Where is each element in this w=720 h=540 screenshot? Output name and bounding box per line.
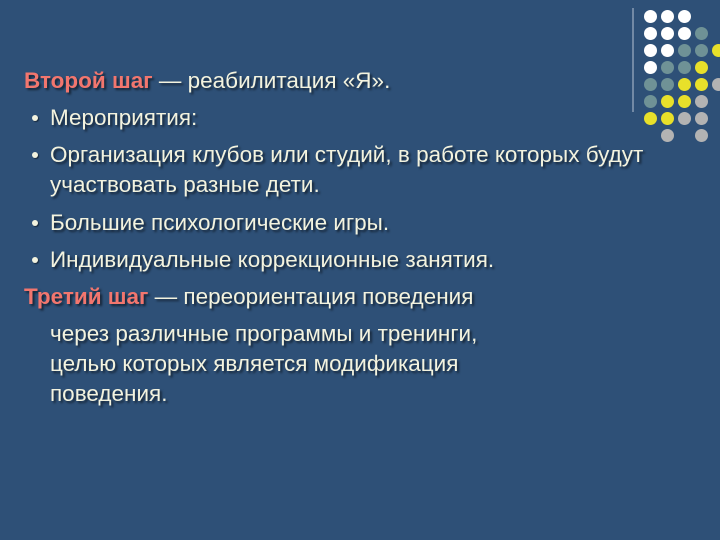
dot-gray bbox=[712, 78, 720, 91]
list-item: Организация клубов или студий, в работе … bbox=[24, 140, 664, 200]
dot-white bbox=[661, 44, 674, 57]
heading-second-step: Второй шаг — реабилитация «Я». bbox=[24, 66, 664, 96]
dot-white bbox=[678, 10, 691, 23]
list-item-label: Мероприятия: bbox=[50, 105, 197, 130]
closing-line-3: поведения. bbox=[24, 379, 664, 409]
dot-teal bbox=[678, 61, 691, 74]
dot-teal bbox=[678, 44, 691, 57]
dot-gray bbox=[695, 95, 708, 108]
dot-yellow bbox=[695, 61, 708, 74]
dot-yellow bbox=[678, 95, 691, 108]
slide-canvas: Второй шаг — реабилитация «Я». Мероприят… bbox=[0, 0, 720, 540]
bullet-dot-icon bbox=[32, 257, 38, 263]
list-item: Индивидуальные коррекционные занятия. bbox=[24, 245, 664, 275]
dot-yellow bbox=[678, 78, 691, 91]
second-step-text: — реабилитация «Я». bbox=[153, 68, 391, 93]
closing-line-1: через различные программы и тренинги, bbox=[24, 319, 664, 349]
third-step-label: Третий шаг bbox=[24, 284, 148, 309]
dot-teal bbox=[695, 44, 708, 57]
dot-white bbox=[678, 27, 691, 40]
closing-line-2: целью которых является модификация bbox=[24, 349, 664, 379]
bullet-dot-icon bbox=[32, 220, 38, 226]
second-step-label: Второй шаг bbox=[24, 68, 153, 93]
list-item-label: Организация клубов или студий, в работе … bbox=[50, 142, 643, 197]
dot-yellow bbox=[695, 78, 708, 91]
list-item-label: Индивидуальные коррекционные занятия. bbox=[50, 247, 494, 272]
dot-gray bbox=[695, 129, 708, 142]
bullet-dot-icon bbox=[32, 115, 38, 121]
list-item: Мероприятия: bbox=[24, 103, 664, 133]
dot-white bbox=[644, 44, 657, 57]
list-item: Большие психологические игры. bbox=[24, 208, 664, 238]
dot-gray bbox=[695, 112, 708, 125]
dot-white bbox=[644, 10, 657, 23]
dot-gray bbox=[678, 112, 691, 125]
dot-teal bbox=[695, 27, 708, 40]
dot-yellow bbox=[712, 44, 720, 57]
dot-white bbox=[644, 27, 657, 40]
heading-third-step: Третий шаг — переориентация поведения bbox=[24, 282, 664, 312]
dot-white bbox=[661, 10, 674, 23]
bullet-dot-icon bbox=[32, 152, 38, 158]
dot-white bbox=[661, 27, 674, 40]
slide-body: Второй шаг — реабилитация «Я». Мероприят… bbox=[24, 66, 664, 409]
third-step-text: — переориентация поведения bbox=[148, 284, 473, 309]
list-item-label: Большие психологические игры. bbox=[50, 210, 389, 235]
